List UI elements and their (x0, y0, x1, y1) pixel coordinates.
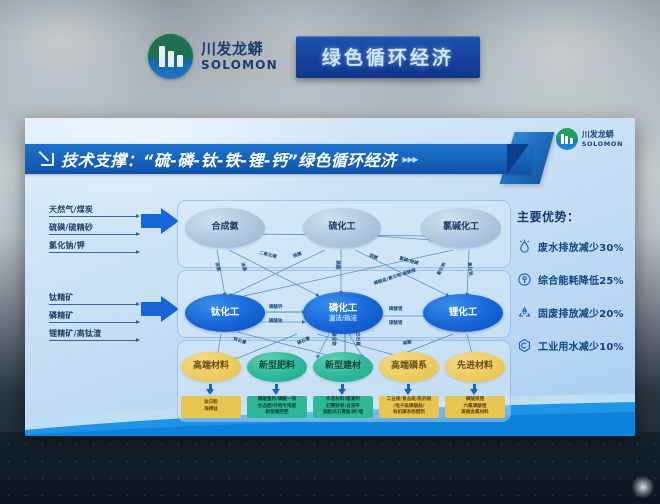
node-phosphorus-chemical[interactable]: 磷化工 湿法/热法 (303, 292, 383, 334)
node-new-fertilizer[interactable]: 新型肥料 (247, 352, 307, 382)
advantage-item: 综合能耗降低25% (517, 272, 633, 287)
node-label: 新型建材 (325, 362, 361, 371)
feed-label: 磷精矿 (49, 310, 74, 321)
poster-panel: 技术支撑：“硫-磷-钛-铁-锂-钙”绿色循环经济 ▸▸▸ 川发龙蟒 SOLOMO… (25, 118, 635, 436)
energy-gauge-icon (517, 272, 532, 287)
advantage-text: 固废排放减少20% (538, 305, 624, 320)
advantage-item: 工业用水减少10% (517, 338, 633, 353)
wall-sign: 川发龙蟒 SOLOMON 绿色循环经济 (148, 34, 480, 79)
advantage-item: 废水排放减少30% (517, 239, 633, 254)
feedstock-group-1: 天然气/煤炭 硫磺/硫精砂 氯化钠/钾 (33, 204, 173, 258)
detail-box-high-end-phosphate: 工业级/食品级/医药级 /电子级磷酸盐/ 有机磷系阻燃剂 (379, 396, 439, 418)
node-high-end-materials[interactable]: 高端材料 (181, 352, 241, 382)
down-arrow-icon (470, 384, 479, 396)
down-right-arrow-icon (41, 153, 54, 166)
node-label: 合成氨 (211, 223, 238, 232)
feed-label: 天然气/煤炭 (49, 204, 93, 215)
feed-label: 锂精矿/高钛渣 (49, 328, 101, 339)
feed-label: 硫磺/硫精砂 (49, 222, 93, 233)
feedstock-group-2: 钛精矿 磷精矿 锂精矿/高钛渣 (33, 292, 173, 346)
feed-row: 锂精矿/高钛渣 (33, 328, 173, 346)
advantages-section: 主要优势： 废水排放减少30% (517, 208, 633, 371)
panel-logo-cn: 川发龙蟒 (582, 131, 623, 139)
node-sulfur-chemical[interactable]: 硫化工 (303, 208, 381, 248)
node-new-building-materials[interactable]: 新型建材 (313, 352, 373, 382)
detail-box-high-end-materials: 钛白粉 海绵钛 (181, 396, 241, 418)
panel-title: 技术支撑：“硫-磷-钛-铁-锂-钙”绿色循环经济 (61, 147, 396, 171)
process-diagram: 合成氨 硫化工 氯碱化工 钛化工 磷化工 湿法/热法 锂化工 高端材料 (177, 200, 509, 420)
ribbon-fold (507, 144, 529, 174)
detail-box-new-building-materials: 水泥材料/缓凝剂 石膏砂浆/自流平 装配式石膏板/砖/墙 (313, 396, 373, 418)
down-arrow-icon (272, 384, 281, 396)
advantage-item: 固废排放减少20% (517, 305, 633, 320)
detail-text: 水泥材料/缓凝剂 石膏砂浆/自流平 装配式石膏板/砖/墙 (323, 397, 363, 417)
node-chlor-alkali[interactable]: 氯碱化工 (421, 208, 501, 248)
company-logo-icon (148, 34, 193, 79)
feed-label: 氯化钠/钾 (49, 240, 85, 251)
node-label: 硫化工 (328, 223, 355, 232)
advantages-title: 主要优势： (517, 208, 633, 225)
advantage-text: 综合能耗降低25% (538, 272, 624, 287)
perforated-wall-texture (0, 436, 660, 504)
company-name-cn: 川发龙蟒 (201, 42, 278, 57)
edge-label: 磷酸钙 (269, 304, 282, 310)
edge-label: 磷酸钠 (269, 318, 282, 324)
plaque: 绿色循环经济 (296, 36, 480, 78)
node-label: 锂化工 (449, 308, 478, 318)
node-sublabel: 湿法/热法 (329, 315, 357, 322)
node-label: 钛化工 (211, 308, 240, 318)
panel-logo-en: SOLOMON (582, 141, 623, 148)
water-drop-icon (517, 239, 532, 254)
company-name-en: SOLOMON (201, 59, 278, 71)
detail-text: 工业级/食品级/医药级 /电子级磷酸盐/ 有机磷系阻燃剂 (387, 397, 432, 417)
feed-arrow-icon (141, 208, 179, 234)
feed-label: 钛精矿 (49, 292, 74, 303)
panel-logo-icon (556, 128, 578, 150)
edge-label: 白石膏 (355, 332, 361, 345)
screenshot-root: 川发龙蟒 SOLOMON 绿色循环经济 技术支撑：“硫-磷-钛-铁-锂-钙”绿色… (0, 0, 660, 504)
down-arrow-icon (338, 384, 347, 396)
panel-logo: 川发龙蟒 SOLOMON (556, 128, 623, 150)
node-label: 氯碱化工 (443, 223, 479, 232)
plaque-text: 绿色循环经济 (322, 47, 454, 69)
feedstock-inputs: 天然气/煤炭 硫磺/硫精砂 氯化钠/钾 钛精矿 磷精矿 锂精矿/高钛渣 (33, 204, 173, 368)
panel-title-bar: 技术支撑：“硫-磷-钛-铁-锂-钙”绿色循环经济 ▸▸▸ (25, 144, 531, 174)
feed-arrow-icon (141, 296, 179, 322)
light-sparkle (630, 474, 656, 500)
node-label: 高端磷系 (391, 362, 427, 371)
detail-text: 钛白粉 海绵钛 (204, 400, 218, 413)
edge-label: 磷酸 (334, 261, 340, 270)
detail-text: 磷酸氢钙/磷酸一铵 生态肥/作物专用肥 新型缓控肥 (258, 397, 296, 417)
edge-label: 磷化物 (331, 332, 337, 345)
node-label: 新型肥料 (259, 362, 295, 371)
recycle-icon (517, 305, 532, 320)
advantage-text: 废水排放减少30% (538, 239, 624, 254)
node-lithium-chemical[interactable]: 锂化工 (423, 294, 503, 332)
detail-box-new-fertilizer: 磷酸氢钙/磷酸一铵 生态肥/作物专用肥 新型缓控肥 (247, 396, 307, 418)
company-name: 川发龙蟒 SOLOMON (201, 42, 278, 71)
node-titanium-chemical[interactable]: 钛化工 (185, 294, 265, 332)
hexagon-water-icon (517, 338, 532, 353)
down-arrow-icon (404, 384, 413, 396)
node-advanced-materials[interactable]: 先进材料 (445, 352, 505, 382)
feed-row: 氯化钠/钾 (33, 240, 173, 258)
detail-box-advanced-materials: 磷酸铁锂 六氟磷酸锂 高端含氟材料 (445, 396, 505, 418)
advantage-text: 工业用水减少10% (538, 338, 624, 353)
node-label: 磷化工 (329, 304, 358, 314)
edge-label: 碳酸锂 (389, 320, 402, 326)
triple-triangle-icon: ▸▸▸ (402, 152, 417, 166)
detail-text: 磷酸铁锂 六氟磷酸锂 高端含氟材料 (461, 397, 489, 417)
edge-label: 磷酸锂 (389, 306, 402, 312)
node-high-end-phosphate[interactable]: 高端磷系 (379, 352, 439, 382)
node-synthetic-ammonia[interactable]: 合成氨 (185, 208, 265, 248)
down-arrow-icon (206, 384, 215, 396)
node-label: 先进材料 (457, 362, 493, 371)
node-label: 高端材料 (193, 362, 229, 371)
